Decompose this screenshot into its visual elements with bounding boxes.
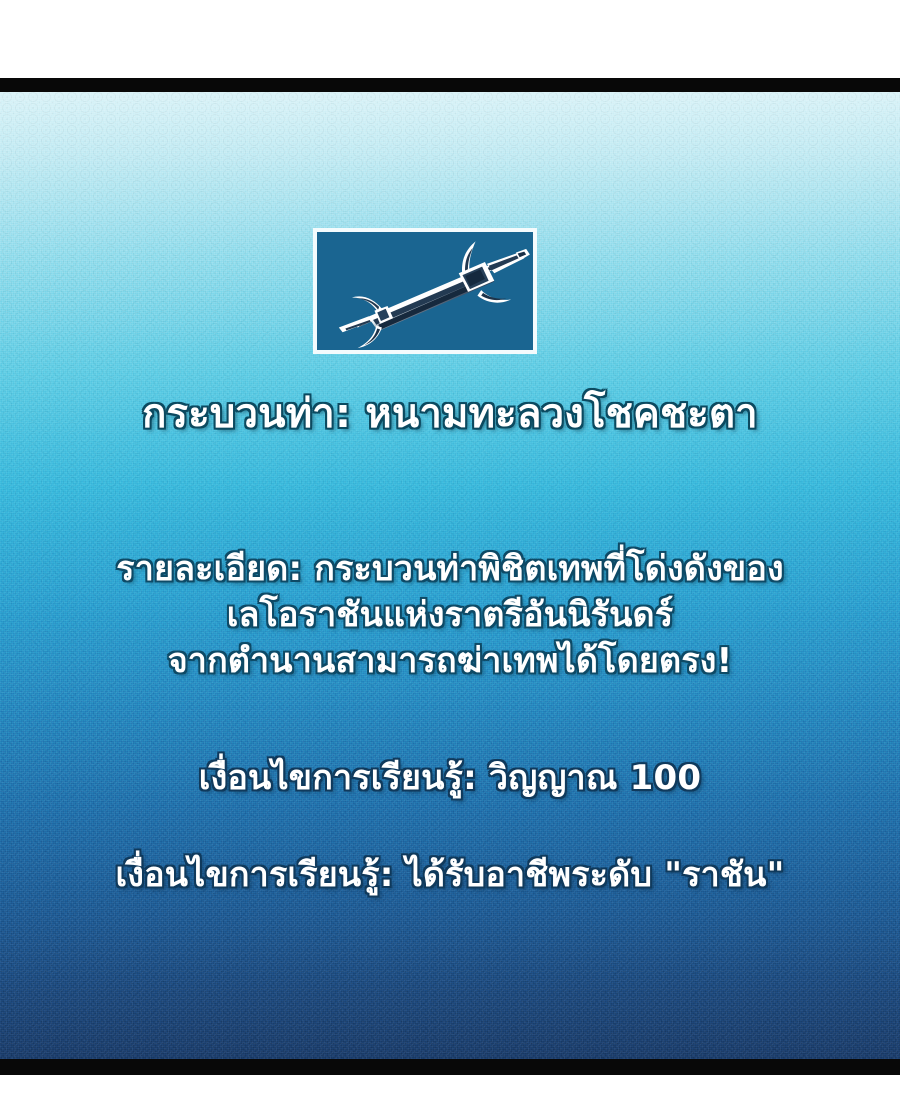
skill-info-panel: กระบวนท่า: หนามทะลวงโชคชะตา รายละเอียด: … <box>0 92 900 1059</box>
skill-text-layer: กระบวนท่า: หนามทะลวงโชคชะตา รายละเอียด: … <box>0 92 900 1059</box>
skill-requirement-soul: เงื่อนไขการเรียนรู้: วิญญาณ 100 <box>0 755 900 801</box>
letterbox-bar-bottom <box>0 1059 900 1075</box>
skill-requirement-class: เงื่อนไขการเรียนรู้: ได้รับอาชีพระดับ "ร… <box>0 852 900 898</box>
skill-description-line-3: จากตำนานสามารถฆ่าเทพได้โดยตรง! <box>0 638 900 684</box>
skill-title: กระบวนท่า: หนามทะลวงโชคชะตา <box>0 388 900 440</box>
skill-description-line-2: เลโอราชันแห่งราตรีอันนิรันดร์ <box>0 592 900 638</box>
skill-description-line-1: รายละเอียด: กระบวนท่าพิชิตเทพที่โด่งดังข… <box>0 546 900 592</box>
letterbox-bar-top <box>0 78 900 92</box>
comic-panel-page: กระบวนท่า: หนามทะลวงโชคชะตา รายละเอียด: … <box>0 0 900 1105</box>
